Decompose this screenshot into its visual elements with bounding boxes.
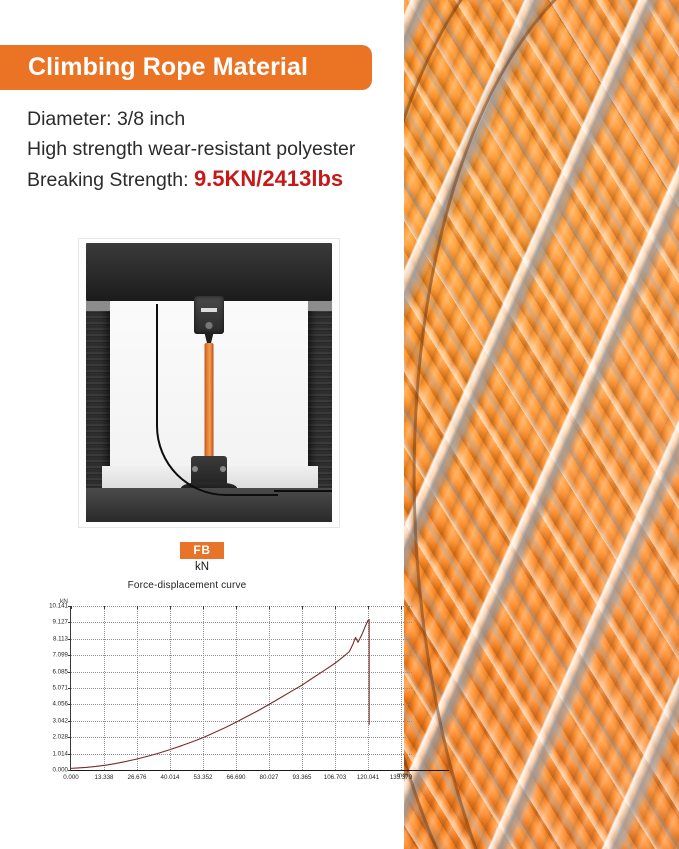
chart-y-tick-label: 6.085 <box>53 668 68 675</box>
chart-y-tick-label: 7.099 <box>53 652 68 659</box>
chart-y-tick-label: 3.042 <box>53 717 68 724</box>
rope-product-photo <box>404 0 679 849</box>
chart-x-tick-label: 40.014 <box>161 774 180 781</box>
breaking-strength-label: Breaking Strength: <box>27 169 194 191</box>
machine-column-left <box>86 301 110 493</box>
chart-curve <box>71 606 401 770</box>
chart-gridline-vertical <box>401 606 402 770</box>
force-displacement-chart: Force-displacement curve kN mm 0.0001.01… <box>22 580 412 802</box>
chart-y-tick-label: 4.056 <box>53 701 68 708</box>
chart-x-axis-extension <box>401 770 449 771</box>
machine-column-cap-left <box>86 301 110 311</box>
chart-x-tick-label: 13.338 <box>95 774 114 781</box>
machine-crosshead <box>86 243 332 301</box>
machine-column-right <box>308 301 332 493</box>
chart-y-tick-label: 8.113 <box>53 635 68 642</box>
fb-badge-group: FB kN <box>0 541 404 573</box>
machine-column-cap-right <box>308 301 332 311</box>
product-infographic: Climbing Rope Material Diameter: 3/8 inc… <box>0 0 679 849</box>
rope-shading-overlay <box>404 0 679 849</box>
chart-x-tick-label: 120.041 <box>357 774 379 781</box>
chart-x-tick-label: 80.027 <box>260 774 279 781</box>
chart-y-tick-label: 5.071 <box>53 684 68 691</box>
spec-material: High strength wear-resistant polyester <box>27 134 417 164</box>
chart-x-tick-label: 26.676 <box>128 774 147 781</box>
chart-y-tick-label: 1.014 <box>53 750 68 757</box>
tensile-test-machine-photo <box>78 238 340 528</box>
page-title: Climbing Rope Material <box>0 53 308 82</box>
fb-badge: FB <box>180 542 223 559</box>
chart-x-tick-mark <box>401 606 402 609</box>
spec-list: Diameter: 3/8 inch High strength wear-re… <box>27 104 417 195</box>
chart-y-tick-label: 9.127 <box>53 619 68 626</box>
rope-coil-mask <box>404 0 679 849</box>
fb-unit-label: kN <box>0 561 404 573</box>
chart-y-tick-label: 0.000 <box>53 767 68 774</box>
chart-y-tick-label: 10.141 <box>49 603 68 610</box>
chart-series-line <box>71 620 369 769</box>
machine-sensor-cable-tail <box>274 490 332 492</box>
breaking-strength-value: 9.5KN/2413lbs <box>194 166 343 191</box>
chart-x-tick-label: 106.703 <box>324 774 346 781</box>
chart-plot-area: 0.0001.0142.0283.0424.0565.0716.0857.099… <box>70 606 401 771</box>
spec-diameter: Diameter: 3/8 inch <box>27 104 417 134</box>
machine-sensor-cable <box>156 304 278 496</box>
spec-breaking-strength: Breaking Strength: 9.5KN/2413lbs <box>27 164 417 195</box>
chart-x-tick-label: 66.690 <box>227 774 246 781</box>
chart-x-tick-label: 53.352 <box>194 774 213 781</box>
chart-title: Force-displacement curve <box>22 580 352 591</box>
chart-x-tick-label: 93.365 <box>293 774 312 781</box>
header-banner: Climbing Rope Material <box>0 45 372 90</box>
chart-y-tick-label: 2.028 <box>53 734 68 741</box>
chart-y-tick-mark <box>68 770 71 771</box>
chart-x-tick-label: 133.379 <box>390 774 412 781</box>
chart-x-tick-label: 0.000 <box>63 774 78 781</box>
